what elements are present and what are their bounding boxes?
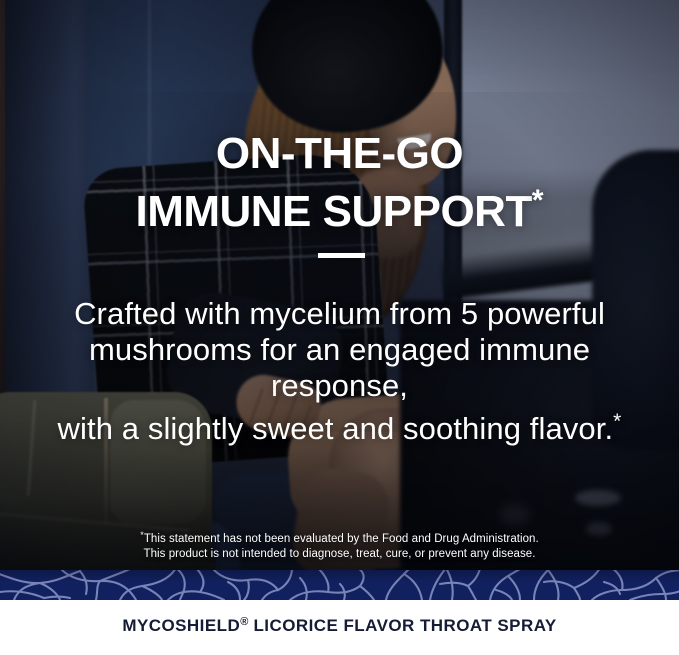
product-caption: MYCOSHIELD® LICORICE FLAVOR THROAT SPRAY <box>0 616 679 636</box>
subcopy-line-2: mushrooms for an engaged immune response… <box>40 332 639 404</box>
caption-bar: MYCOSHIELD® LICORICE FLAVOR THROAT SPRAY <box>0 600 679 655</box>
headline-line-2: IMMUNE SUPPORT* <box>0 177 679 235</box>
disclaimer-line-1: *This statement has not been evaluated b… <box>60 528 619 547</box>
divider-rule <box>318 253 365 258</box>
mycelium-branch-icon <box>0 570 679 600</box>
subcopy: Crafted with mycelium from 5 powerful mu… <box>40 296 639 447</box>
headline-line-1: ON-THE-GO <box>0 130 679 177</box>
headline-asterisk: * <box>532 184 544 217</box>
headline: ON-THE-GO IMMUNE SUPPORT* <box>0 130 679 235</box>
photo-text-overlay: ON-THE-GO IMMUNE SUPPORT* Crafted with m… <box>0 0 679 655</box>
caption-rest: LICORICE FLAVOR THROAT SPRAY <box>248 616 556 635</box>
product-banner: ON-THE-GO IMMUNE SUPPORT* Crafted with m… <box>0 0 679 655</box>
subcopy-asterisk: * <box>613 410 621 433</box>
caption-brand: MYCOSHIELD <box>122 616 240 635</box>
subcopy-line-3-text: with a slightly sweet and soothing flavo… <box>58 411 614 446</box>
mycelium-pattern-band <box>0 570 679 600</box>
disclaimer-line-2: This product is not intended to diagnose… <box>60 547 619 562</box>
disclaimer-line-1-text: This statement has not been evaluated by… <box>144 533 539 545</box>
subcopy-line-1: Crafted with mycelium from 5 powerful <box>40 296 639 332</box>
headline-line-2-text: IMMUNE SUPPORT <box>135 187 531 236</box>
subcopy-line-3: with a slightly sweet and soothing flavo… <box>40 404 639 447</box>
fda-disclaimer: *This statement has not been evaluated b… <box>60 528 619 562</box>
